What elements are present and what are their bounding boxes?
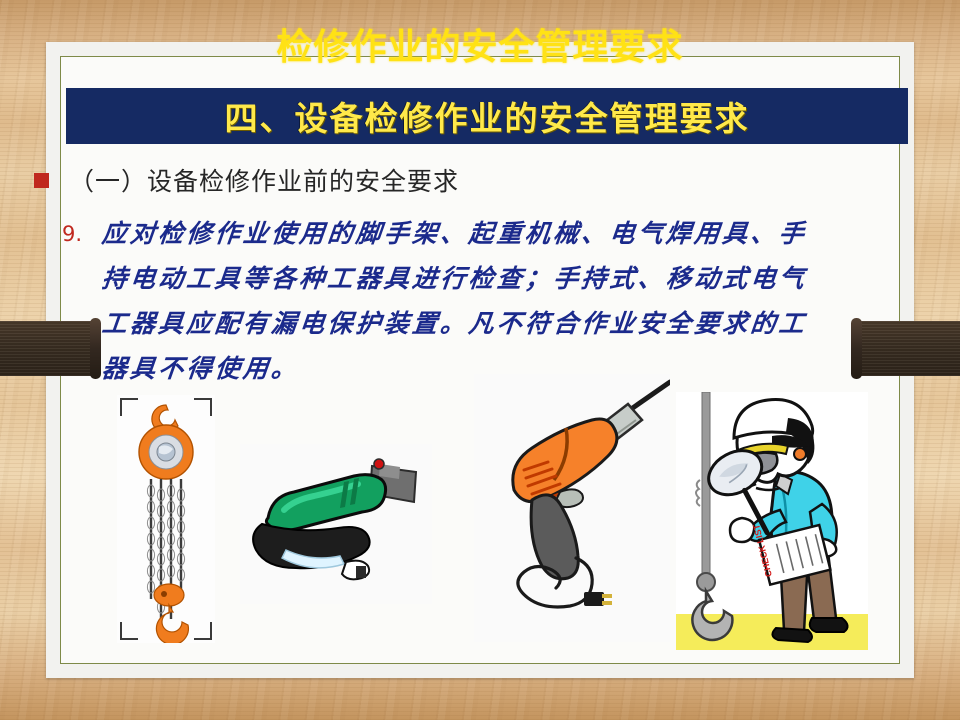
- left-banner-rod: [0, 321, 97, 376]
- square-bullet-icon: [34, 173, 49, 188]
- angle-grinder-drawing: [240, 444, 432, 604]
- electric-drill-illustration: [474, 374, 670, 642]
- angle-grinder-photo: [240, 444, 432, 604]
- image-strip: CHECK LIST: [62, 392, 910, 654]
- body-line-text: 应对检修作业使用的脚手架、起重机械、电气焊用具、手: [100, 214, 809, 254]
- body-line-text: 工器具应配有漏电保护装置。凡不符合作业安全要求的工: [100, 304, 809, 344]
- crop-mark-icon: [120, 398, 138, 416]
- body-line: 持电动工具等各种工器具进行检查；手持式、移动式电气: [62, 259, 922, 304]
- watermark-heading: 检修作业的安全管理要求: [0, 18, 960, 70]
- body-paragraph: 9. 应对检修作业使用的脚手架、起重机械、电气焊用具、手 持电动工具等各种工器具…: [62, 214, 922, 394]
- crop-mark-icon: [194, 622, 212, 640]
- body-line-text: 器具不得使用。: [100, 349, 302, 389]
- body-line: 工器具应配有漏电保护装置。凡不符合作业安全要求的工: [62, 304, 922, 349]
- subheading-text: （一）设备检修作业前的安全要求: [69, 162, 459, 198]
- page-title: 四、设备检修作业的安全管理要求: [225, 92, 750, 140]
- inspector-cartoon-drawing: CHECK LIST: [676, 392, 868, 650]
- item-number: 9.: [62, 214, 102, 254]
- body-line-text: 持电动工具等各种工器具进行检查；手持式、移动式电气: [100, 259, 809, 299]
- crop-mark-icon: [194, 398, 212, 416]
- body-line: 9. 应对检修作业使用的脚手架、起重机械、电气焊用具、手: [62, 214, 922, 259]
- crop-mark-icon: [120, 622, 138, 640]
- subheading-row: （一）设备检修作业前的安全要求: [34, 160, 894, 200]
- chain-hoist-drawing: [117, 395, 215, 643]
- electric-drill-drawing: [474, 374, 670, 642]
- right-banner-rod: [855, 321, 960, 376]
- rod-cap-icon: [851, 318, 862, 379]
- inspector-cartoon: CHECK LIST: [676, 392, 868, 650]
- slide-canvas: 检修作业的安全管理要求 四、设备检修作业的安全管理要求 （一）设备检修作业前的安…: [0, 0, 960, 720]
- chain-hoist-photo: [117, 395, 215, 643]
- title-bar: 四、设备检修作业的安全管理要求: [66, 88, 908, 144]
- rod-cap-icon: [90, 318, 101, 379]
